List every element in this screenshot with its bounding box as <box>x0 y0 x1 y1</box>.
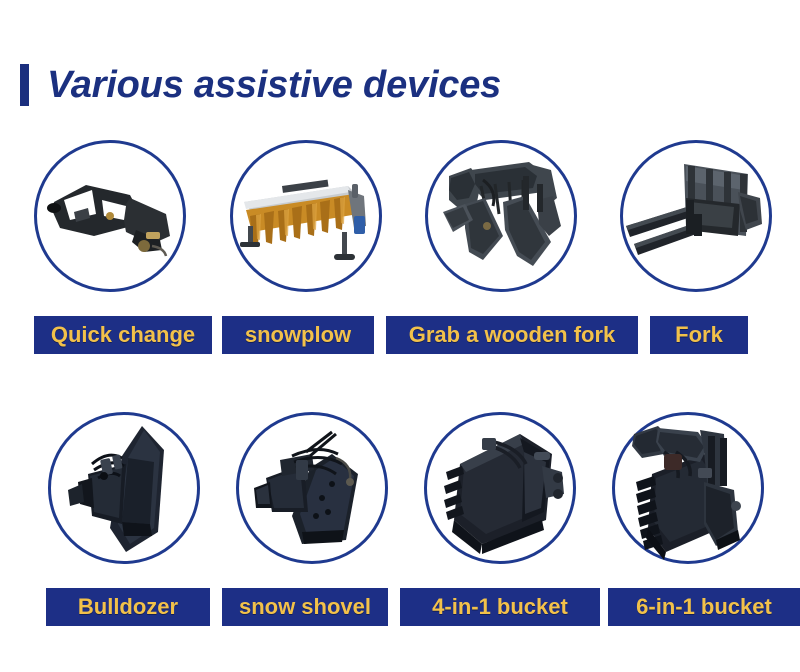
rotary-broom-sweeper-icon <box>230 140 382 292</box>
assistive-devices-page: { "header": { "title": "Various assistiv… <box>0 0 800 672</box>
device-label-text: 6-in-1 bucket <box>636 596 772 618</box>
page-title-text: Various assistive devices <box>47 66 501 104</box>
device-label-snow-shovel[interactable]: snow shovel <box>222 588 388 626</box>
device-row-2-labels: Bulldozer snow shovel 4-in-1 bucket 6-in… <box>0 588 800 632</box>
device-thumb-bulldozer[interactable] <box>48 412 200 564</box>
device-label-text: snowplow <box>245 324 351 346</box>
device-thumb-quick-change[interactable] <box>34 140 186 292</box>
device-row-2: Bulldozer snow shovel 4-in-1 bucket 6-in… <box>0 412 800 632</box>
dozer-blade-icon <box>48 412 200 564</box>
device-row-1-thumbnails <box>0 140 800 316</box>
log-grapple-icon <box>425 140 577 292</box>
device-label-snowplow[interactable]: snowplow <box>222 316 374 354</box>
four-in-one-bucket-icon <box>424 412 576 564</box>
device-thumb-4-in-1-bucket[interactable] <box>424 412 576 564</box>
device-thumb-snowplow[interactable] <box>230 140 382 292</box>
device-label-4-in-1-bucket[interactable]: 4-in-1 bucket <box>400 588 600 626</box>
device-row-2-thumbnails <box>0 412 800 588</box>
quick-change-coupler-icon <box>34 140 186 292</box>
six-in-one-bucket-icon <box>612 412 764 564</box>
device-label-text: snow shovel <box>239 596 371 618</box>
device-row-1: Quick change snowplow Grab a wooden fork… <box>0 140 800 360</box>
device-label-fork[interactable]: Fork <box>650 316 748 354</box>
device-label-text: Bulldozer <box>78 596 178 618</box>
device-thumb-snow-shovel[interactable] <box>236 412 388 564</box>
device-label-text: 4-in-1 bucket <box>432 596 568 618</box>
page-title: Various assistive devices <box>0 56 800 114</box>
device-thumb-grab-wooden-fork[interactable] <box>425 140 577 292</box>
device-thumb-6-in-1-bucket[interactable] <box>612 412 764 564</box>
device-label-bulldozer[interactable]: Bulldozer <box>46 588 210 626</box>
device-thumb-fork[interactable] <box>620 140 772 292</box>
device-label-text: Quick change <box>51 324 195 346</box>
device-label-grab-wooden-fork[interactable]: Grab a wooden fork <box>386 316 638 354</box>
device-label-text: Fork <box>675 324 723 346</box>
pallet-fork-icon <box>620 140 772 292</box>
device-label-quick-change[interactable]: Quick change <box>34 316 212 354</box>
device-label-text: Grab a wooden fork <box>409 324 616 346</box>
title-accent-bar <box>20 64 29 106</box>
device-row-1-labels: Quick change snowplow Grab a wooden fork… <box>0 316 800 360</box>
device-label-6-in-1-bucket[interactable]: 6-in-1 bucket <box>608 588 800 626</box>
snow-plow-blade-icon <box>236 412 388 564</box>
